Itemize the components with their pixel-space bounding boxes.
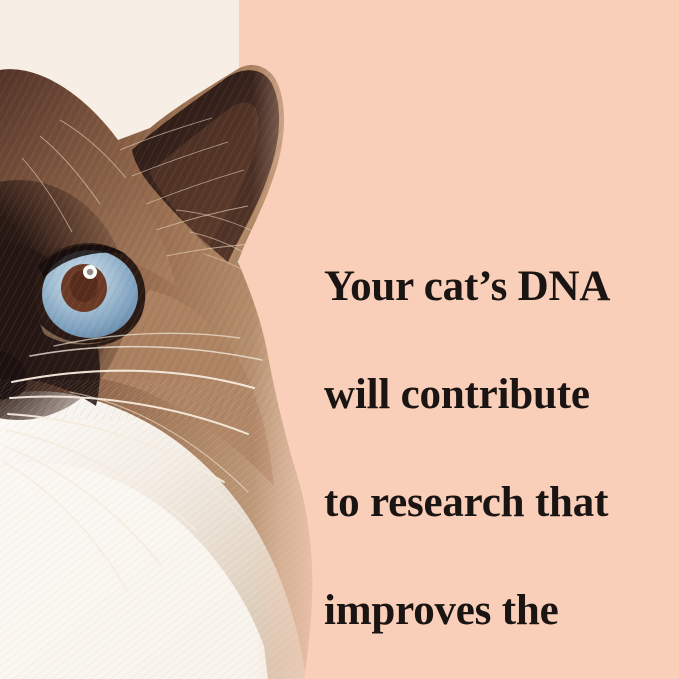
headline-text-block: Your cat’s DNA will contribute to resear… xyxy=(324,206,654,679)
headline-line-4: improves the xyxy=(324,584,654,638)
headline-line-2: will contribute xyxy=(324,368,654,422)
headline-line-3: to research that xyxy=(324,476,654,530)
promo-image-canvas: Your cat’s DNA will contribute to resear… xyxy=(0,0,679,679)
cat-portrait-photo xyxy=(0,0,340,679)
headline-line-1: Your cat’s DNA xyxy=(324,260,654,314)
cat-illustration-svg xyxy=(0,0,340,679)
